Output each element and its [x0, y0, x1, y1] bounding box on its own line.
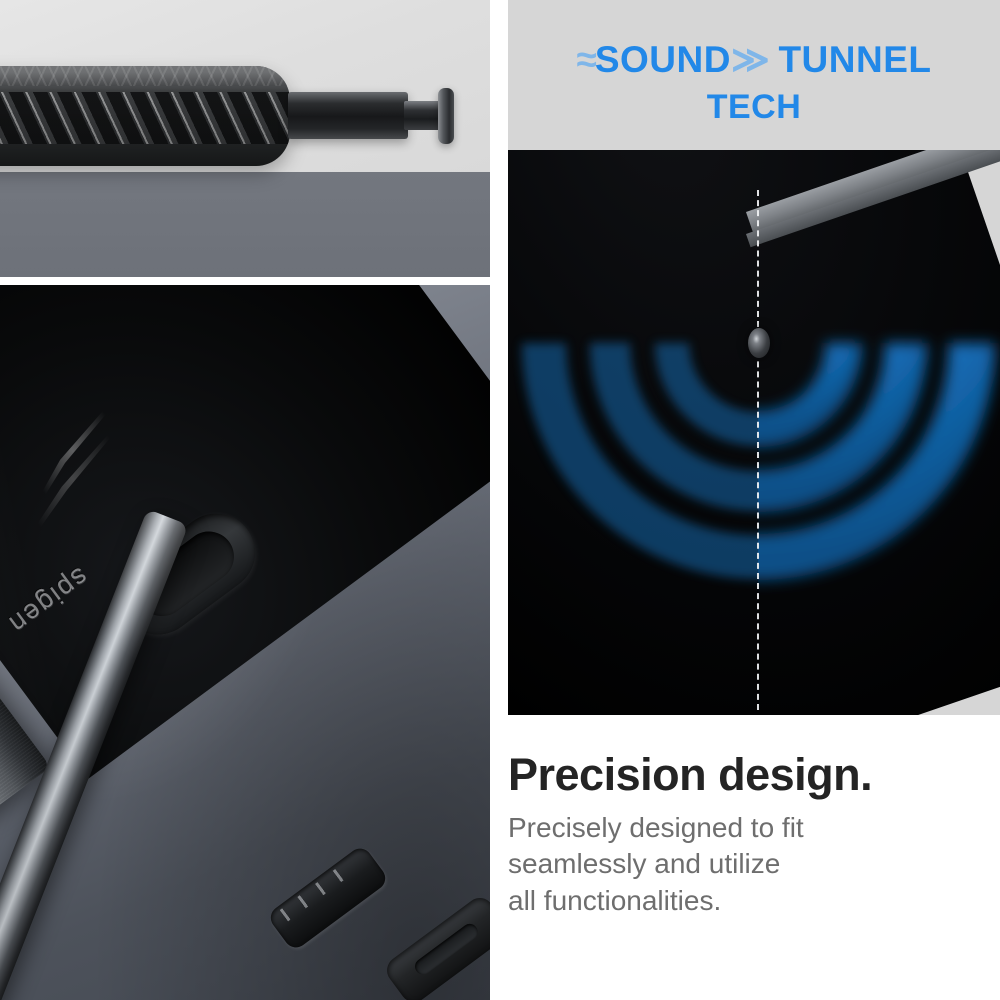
panel-sound-tunnel	[508, 150, 1000, 715]
sound-word: SOUND	[595, 39, 731, 80]
spen-neck	[404, 101, 442, 130]
feature-description-line-2: seamlessly and utilize	[508, 846, 1000, 882]
feature-column: ≈SOUND≫ TUNNEL TECH	[508, 0, 1000, 1000]
feature-description-line-3: all functionalities.	[508, 883, 1000, 919]
center-dashed-divider	[757, 190, 759, 710]
case-edge-closeup	[0, 66, 290, 166]
sound-wave-left-icon: ≈	[577, 39, 595, 80]
feature-description: Precisely designed to fit seamlessly and…	[508, 810, 1000, 919]
sound-wave-right-icon: ≫	[731, 39, 768, 80]
panel-pen-top-edge	[0, 0, 490, 277]
feature-description-line-1: Precisely designed to fit	[508, 810, 1000, 846]
sound-tunnel-title-line2: TECH	[508, 88, 1000, 127]
marketing-image: spigen ≈SOUND≫ TUNNEL TECH	[0, 0, 1000, 1000]
sound-tunnel-header: ≈SOUND≫ TUNNEL TECH	[508, 0, 1000, 150]
product-photo-column: spigen	[0, 0, 490, 1000]
spen-end-cap	[438, 88, 454, 144]
panel-pen-hero: spigen	[0, 285, 490, 1000]
panel-background-lower	[0, 172, 490, 277]
tunnel-word: TUNNEL	[778, 39, 931, 80]
spen-shaft	[288, 92, 408, 139]
case-gloss-overlay	[0, 66, 290, 166]
feature-copy-block: Precision design. Precisely designed to …	[508, 752, 1000, 919]
speaker-hole-icon	[748, 328, 770, 358]
feature-headline: Precision design.	[508, 752, 1000, 798]
sound-wave-arcs	[508, 150, 1000, 715]
sound-tunnel-title-line1: ≈SOUND≫ TUNNEL	[508, 38, 1000, 81]
